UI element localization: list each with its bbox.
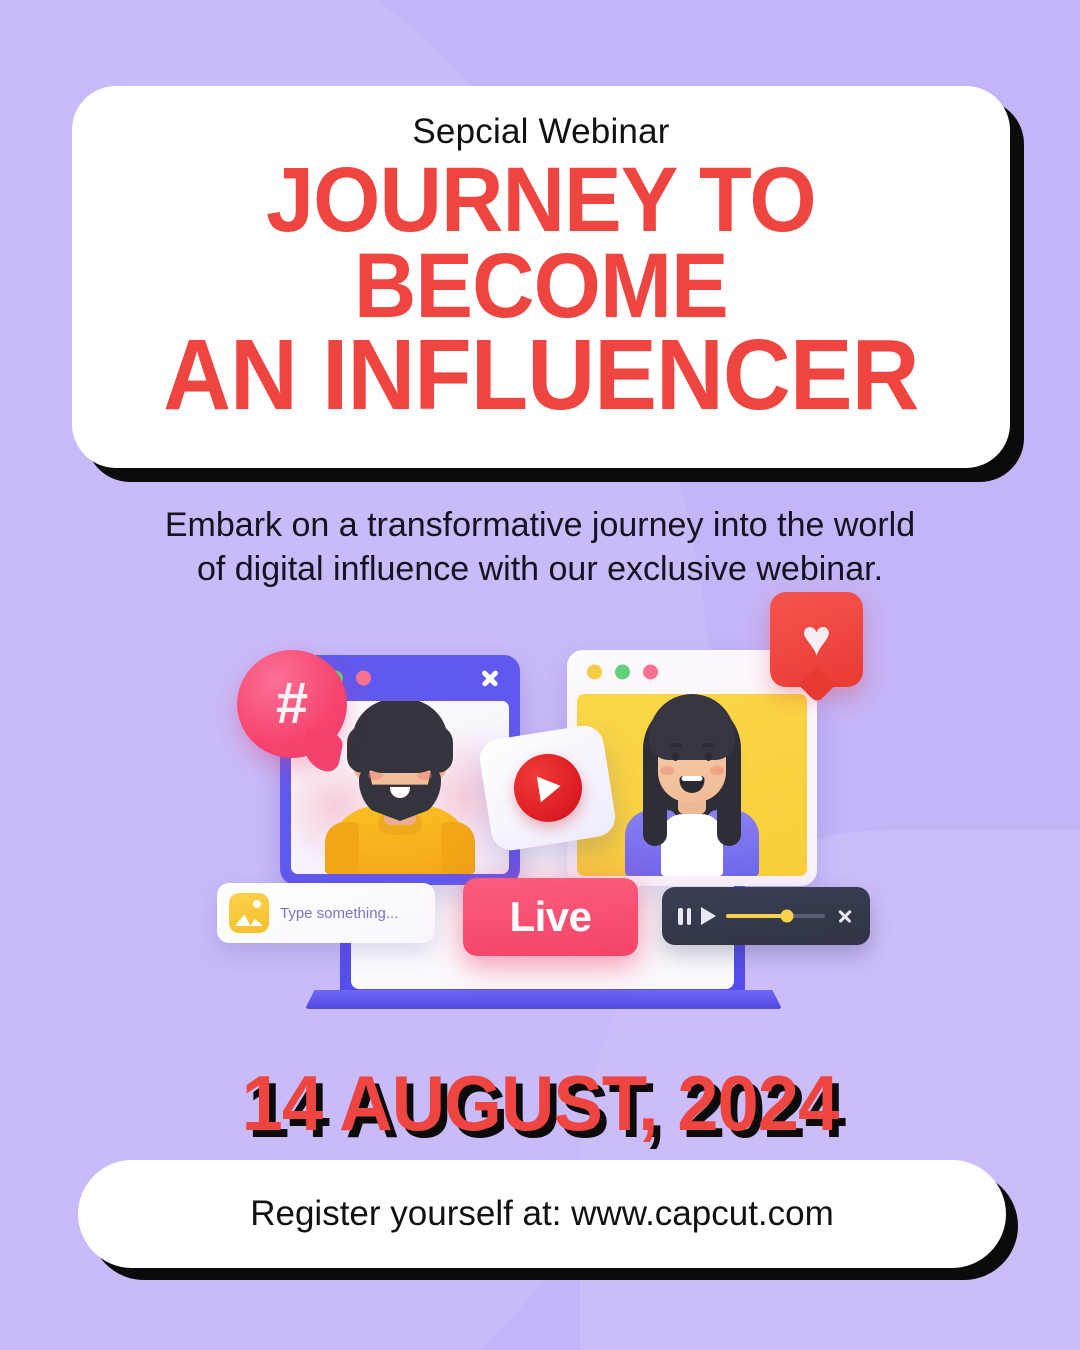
woman-cheek-right [710, 766, 724, 775]
heart-icon: ♥ [770, 613, 863, 663]
chat-input[interactable]: Type something... [217, 883, 435, 943]
pause-icon[interactable] [678, 908, 691, 925]
laptop-base [305, 990, 782, 1009]
avatar-woman [617, 694, 767, 876]
woman-cheek-left [660, 766, 674, 775]
hashtag-icon: # [237, 675, 347, 733]
subtitle-line-2: of digital influence with our exclusive … [0, 548, 1080, 592]
kicker-label: Sepcial Webinar [412, 112, 669, 152]
register-text: Register yourself at: www.capcut.com [250, 1194, 834, 1234]
woman-shirt [661, 814, 723, 876]
register-card: Register yourself at: www.capcut.com [78, 1160, 1006, 1268]
close-icon[interactable] [480, 668, 500, 688]
subtitle-line-1: Embark on a transformative journey into … [0, 504, 1080, 548]
heart-badge: ♥ [770, 592, 863, 687]
window-dot-pink-icon[interactable] [643, 665, 658, 680]
media-player-bar [662, 887, 870, 945]
woman-hair-top [649, 694, 735, 760]
woman-brow-right [702, 743, 715, 747]
play-triangle-icon [536, 773, 562, 802]
avatar-bearded-man [325, 701, 475, 874]
title-line-1: JOURNEY TO [163, 158, 918, 244]
man-hair [352, 701, 448, 773]
window-dot-green-icon[interactable] [615, 665, 630, 680]
man-arm-right [441, 822, 475, 874]
play-card[interactable] [477, 723, 618, 853]
man-arm-left [325, 822, 359, 874]
play-icon[interactable] [509, 749, 587, 827]
progress-slider[interactable] [726, 914, 825, 918]
image-icon-sun [253, 900, 261, 908]
woman-eye-left [672, 752, 679, 761]
webinar-illustration: # [195, 600, 885, 1040]
title-line-2: BECOME [163, 244, 918, 330]
image-icon-mountain [235, 911, 263, 926]
live-button[interactable]: Live [463, 878, 638, 956]
window-dot-pink-icon[interactable] [356, 671, 371, 686]
play-icon[interactable] [701, 907, 716, 925]
title-card: Sepcial Webinar JOURNEY TO BECOME AN INF… [72, 86, 1010, 468]
right-window-screen [577, 694, 807, 876]
window-dot-yellow-icon[interactable] [587, 665, 602, 680]
hashtag-bubble: # [237, 650, 347, 758]
image-icon[interactable] [229, 893, 269, 933]
woman-eye-right [705, 752, 712, 761]
progress-knob[interactable] [781, 910, 794, 923]
woman-brow-left [669, 743, 682, 747]
page-title: JOURNEY TO BECOME AN INFLUENCER [163, 158, 918, 422]
subtitle: Embark on a transformative journey into … [0, 504, 1080, 591]
window-dots [587, 665, 658, 680]
event-date: 14 AUGUST, 2024 [27, 1058, 1053, 1149]
live-button-label: Live [509, 893, 591, 941]
title-line-3: AN INFLUENCER [163, 329, 918, 422]
collapse-icon[interactable] [835, 907, 854, 926]
chat-input-placeholder: Type something... [280, 905, 398, 922]
progress-fill [726, 914, 787, 918]
